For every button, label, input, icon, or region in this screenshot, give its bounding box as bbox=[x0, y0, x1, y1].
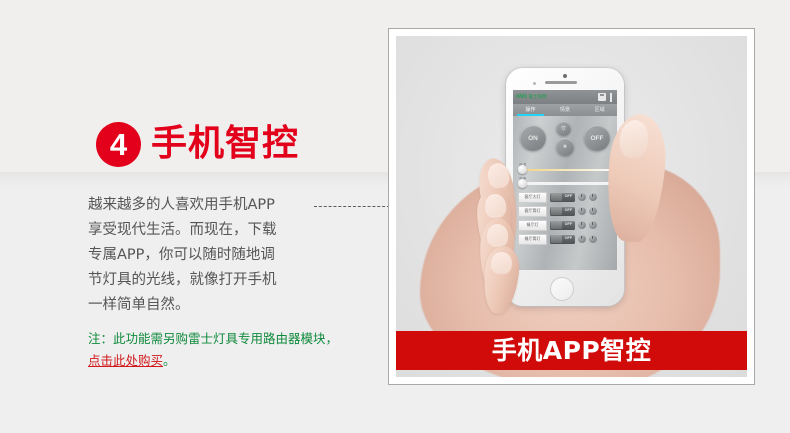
light-name-label: 客厅大灯 bbox=[518, 192, 547, 203]
earpiece-speaker bbox=[545, 81, 577, 84]
brightness-slider[interactable] bbox=[518, 182, 612, 184]
smartphone-device: nVc 雷士照明 操作 情景 区域 ON ⛉ ☀ OFF bbox=[506, 68, 624, 306]
color-temp-slider-handle[interactable] bbox=[518, 165, 527, 174]
body-line-1: 越来越多的人喜欢用手机APP bbox=[88, 193, 328, 218]
note-period: 。 bbox=[163, 353, 176, 368]
master-on-button[interactable]: ON bbox=[520, 125, 546, 151]
app-tab-bar: 操作 情景 区域 bbox=[513, 104, 617, 116]
page-title: 手机智控 bbox=[151, 126, 299, 162]
brightness-slider-handle[interactable] bbox=[518, 179, 527, 188]
section-number-badge: 4 bbox=[96, 122, 141, 167]
photo-inner: nVc 雷士照明 操作 情景 区域 ON ⛉ ☀ OFF bbox=[396, 36, 747, 377]
shield-mode-icon[interactable]: ⛉ bbox=[556, 121, 571, 136]
tab-operation[interactable]: 操作 bbox=[513, 104, 548, 116]
tab-scene[interactable]: 情景 bbox=[548, 104, 583, 116]
proximity-sensor-icon bbox=[533, 82, 536, 85]
brightness-dial[interactable] bbox=[589, 207, 597, 215]
tab-zone[interactable]: 区域 bbox=[582, 104, 617, 116]
color-temp-slider[interactable] bbox=[518, 169, 612, 171]
toggle-knob bbox=[551, 235, 562, 243]
product-photo-frame: nVc 雷士照明 操作 情景 区域 ON ⛉ ☀ OFF bbox=[388, 28, 755, 385]
fingernail bbox=[487, 224, 508, 247]
app-body: ON ⛉ ☀ OFF 色温 亮度 bbox=[513, 116, 617, 270]
light-name-label: 餐厅灯 bbox=[518, 220, 547, 231]
body-line-4: 节灯具的光线，就像打开手机 bbox=[88, 268, 328, 293]
front-camera-icon bbox=[563, 74, 567, 78]
brand-name-label: 雷士照明 bbox=[529, 95, 547, 100]
color-temp-dial[interactable] bbox=[578, 235, 586, 243]
more-menu-icon[interactable] bbox=[610, 93, 612, 102]
phone-screen: nVc 雷士照明 操作 情景 区域 ON ⛉ ☀ OFF bbox=[513, 90, 617, 270]
brightness-slider-label: 亮度 bbox=[519, 178, 612, 182]
toggle-state-label: OFF bbox=[562, 209, 575, 213]
toggle-knob bbox=[551, 221, 562, 229]
body-line-5: 一样简单自然。 bbox=[88, 293, 328, 318]
color-temp-slider-label: 色温 bbox=[519, 164, 612, 168]
light-power-toggle[interactable]: OFF bbox=[550, 221, 575, 230]
body-paragraphs: 越来越多的人喜欢用手机APP 享受现代生活。而现在，下载 专属APP，你可以随时… bbox=[88, 193, 328, 318]
list-item[interactable]: 客厅大灯 OFF bbox=[518, 192, 612, 203]
note-block: 注：此功能需另购雷士灯具专用路由器模块， 点击此处购买。 bbox=[88, 328, 338, 372]
home-button[interactable] bbox=[550, 277, 574, 301]
dashed-connector-line bbox=[314, 206, 390, 207]
save-icon[interactable] bbox=[598, 93, 606, 101]
note-text: 注：此功能需另购雷士灯具专用路由器模块， bbox=[88, 328, 338, 350]
purchase-link[interactable]: 点击此处购买 bbox=[88, 350, 163, 372]
caption-banner: 手机APP智控 bbox=[396, 331, 747, 370]
light-name-label: 客厅筒灯 bbox=[518, 206, 547, 217]
light-power-toggle[interactable]: OFF bbox=[550, 207, 575, 216]
light-name-label: 餐厅筒灯 bbox=[518, 234, 547, 245]
list-item[interactable]: 餐厅筒灯 OFF bbox=[518, 234, 612, 245]
light-power-toggle[interactable]: OFF bbox=[550, 193, 575, 202]
toggle-state-label: OFF bbox=[562, 237, 575, 241]
toggle-state-label: OFF bbox=[562, 223, 575, 227]
body-line-3: 专属APP，你可以随时随地调 bbox=[88, 243, 328, 268]
app-header: nVc 雷士照明 bbox=[513, 90, 617, 104]
brightness-dial[interactable] bbox=[589, 235, 597, 243]
list-item[interactable]: 餐厅灯 OFF bbox=[518, 220, 612, 231]
caption-label: 手机APP智控 bbox=[492, 338, 652, 363]
toggle-knob bbox=[551, 193, 562, 201]
fingernail bbox=[490, 251, 513, 275]
body-line-2: 享受现代生活。而现在，下载 bbox=[88, 218, 328, 243]
color-temp-dial[interactable] bbox=[578, 221, 586, 229]
light-power-toggle[interactable]: OFF bbox=[550, 235, 575, 244]
section-heading: 4 手机智控 bbox=[96, 116, 299, 172]
brightness-dial[interactable] bbox=[589, 221, 597, 229]
light-list: 客厅大灯 OFF 客厅筒灯 OFF bbox=[518, 192, 612, 245]
toggle-knob bbox=[551, 207, 562, 215]
master-button-row: ON ⛉ ☀ OFF bbox=[518, 120, 612, 162]
toggle-state-label: OFF bbox=[562, 195, 575, 199]
slider-group: 色温 亮度 bbox=[518, 164, 612, 185]
left-content-column: 4 手机智控 越来越多的人喜欢用手机APP 享受现代生活。而现在，下载 专属AP… bbox=[0, 0, 390, 433]
brightness-dial[interactable] bbox=[589, 193, 597, 201]
list-item[interactable]: 客厅筒灯 OFF bbox=[518, 206, 612, 217]
brightness-mode-icon[interactable]: ☀ bbox=[556, 138, 574, 156]
color-temp-dial[interactable] bbox=[578, 207, 586, 215]
color-temp-dial[interactable] bbox=[578, 193, 586, 201]
master-off-button[interactable]: OFF bbox=[584, 125, 610, 151]
brand-logo: nVc bbox=[516, 94, 527, 101]
